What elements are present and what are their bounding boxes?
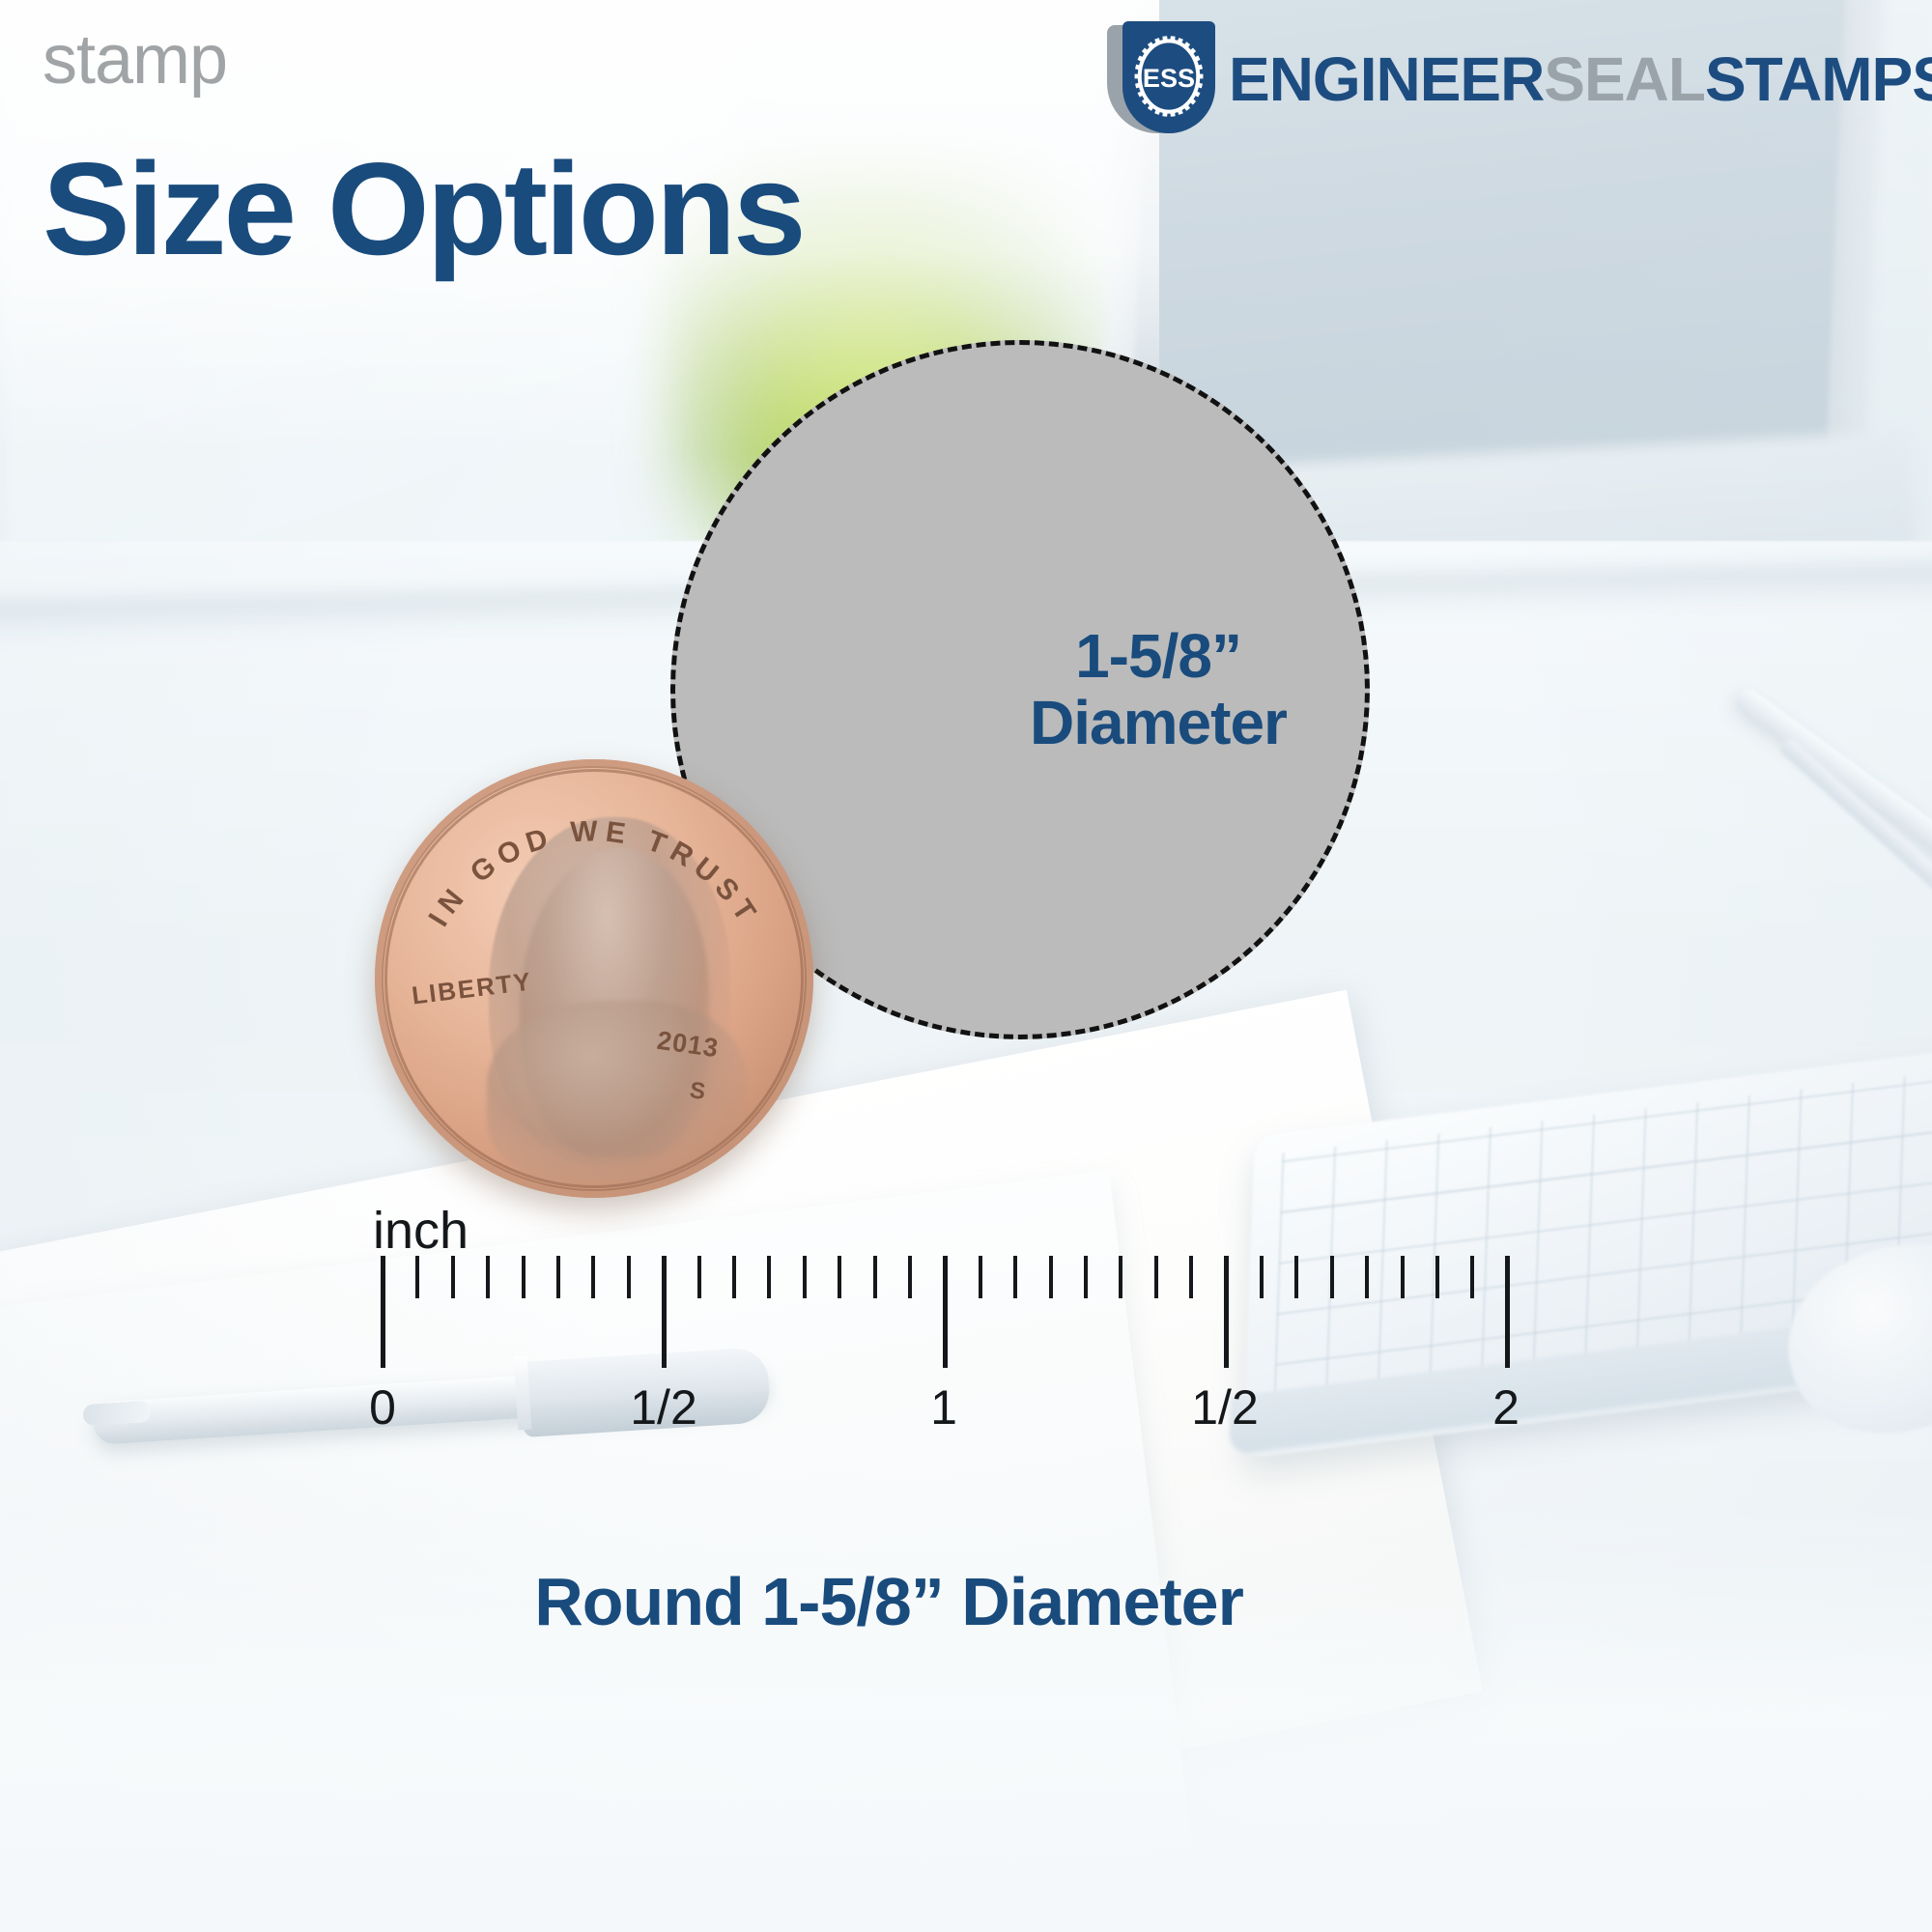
penny-coin: IN GOD WE TRUST LIBERTY 2013 S (375, 759, 813, 1198)
size-options-graphic: stamp Size Options ESS ENGINEER SEAL STA… (0, 0, 1932, 1932)
gear-icon: ESS (1130, 35, 1207, 118)
stamp-size-label: 1-5/8” Diameter (965, 623, 1351, 756)
ruler-unit-label: inch (373, 1205, 469, 1257)
stamp-size-line-2: Diameter (965, 690, 1351, 756)
size-caption: Round 1-5/8” Diameter (0, 1563, 1932, 1640)
badge-text: ESS (1143, 63, 1195, 93)
brand-logo[interactable]: ESS ENGINEER SEAL STAMPS .COM (1101, 21, 1932, 137)
size-caption-text: Round 1-5/8” Diameter (534, 1563, 1243, 1640)
penny-scale-reference: IN GOD WE TRUST LIBERTY 2013 S (375, 759, 813, 1198)
logo-wordmark: ENGINEER SEAL STAMPS .COM (1229, 46, 1932, 113)
penny-motto-text: IN GOD WE TRUST (423, 815, 766, 932)
kicker-label: stamp (43, 25, 227, 95)
ess-badge-icon: ESS (1101, 21, 1215, 137)
logo-part-stamps: STAMPS (1705, 48, 1932, 110)
svg-text:IN GOD WE TRUST: IN GOD WE TRUST (423, 815, 766, 932)
logo-part-seal: SEAL (1544, 48, 1705, 110)
logo-part-engineer: ENGINEER (1229, 48, 1544, 110)
page-title: Size Options (43, 143, 804, 274)
stamp-size-line-1: 1-5/8” (965, 623, 1351, 690)
